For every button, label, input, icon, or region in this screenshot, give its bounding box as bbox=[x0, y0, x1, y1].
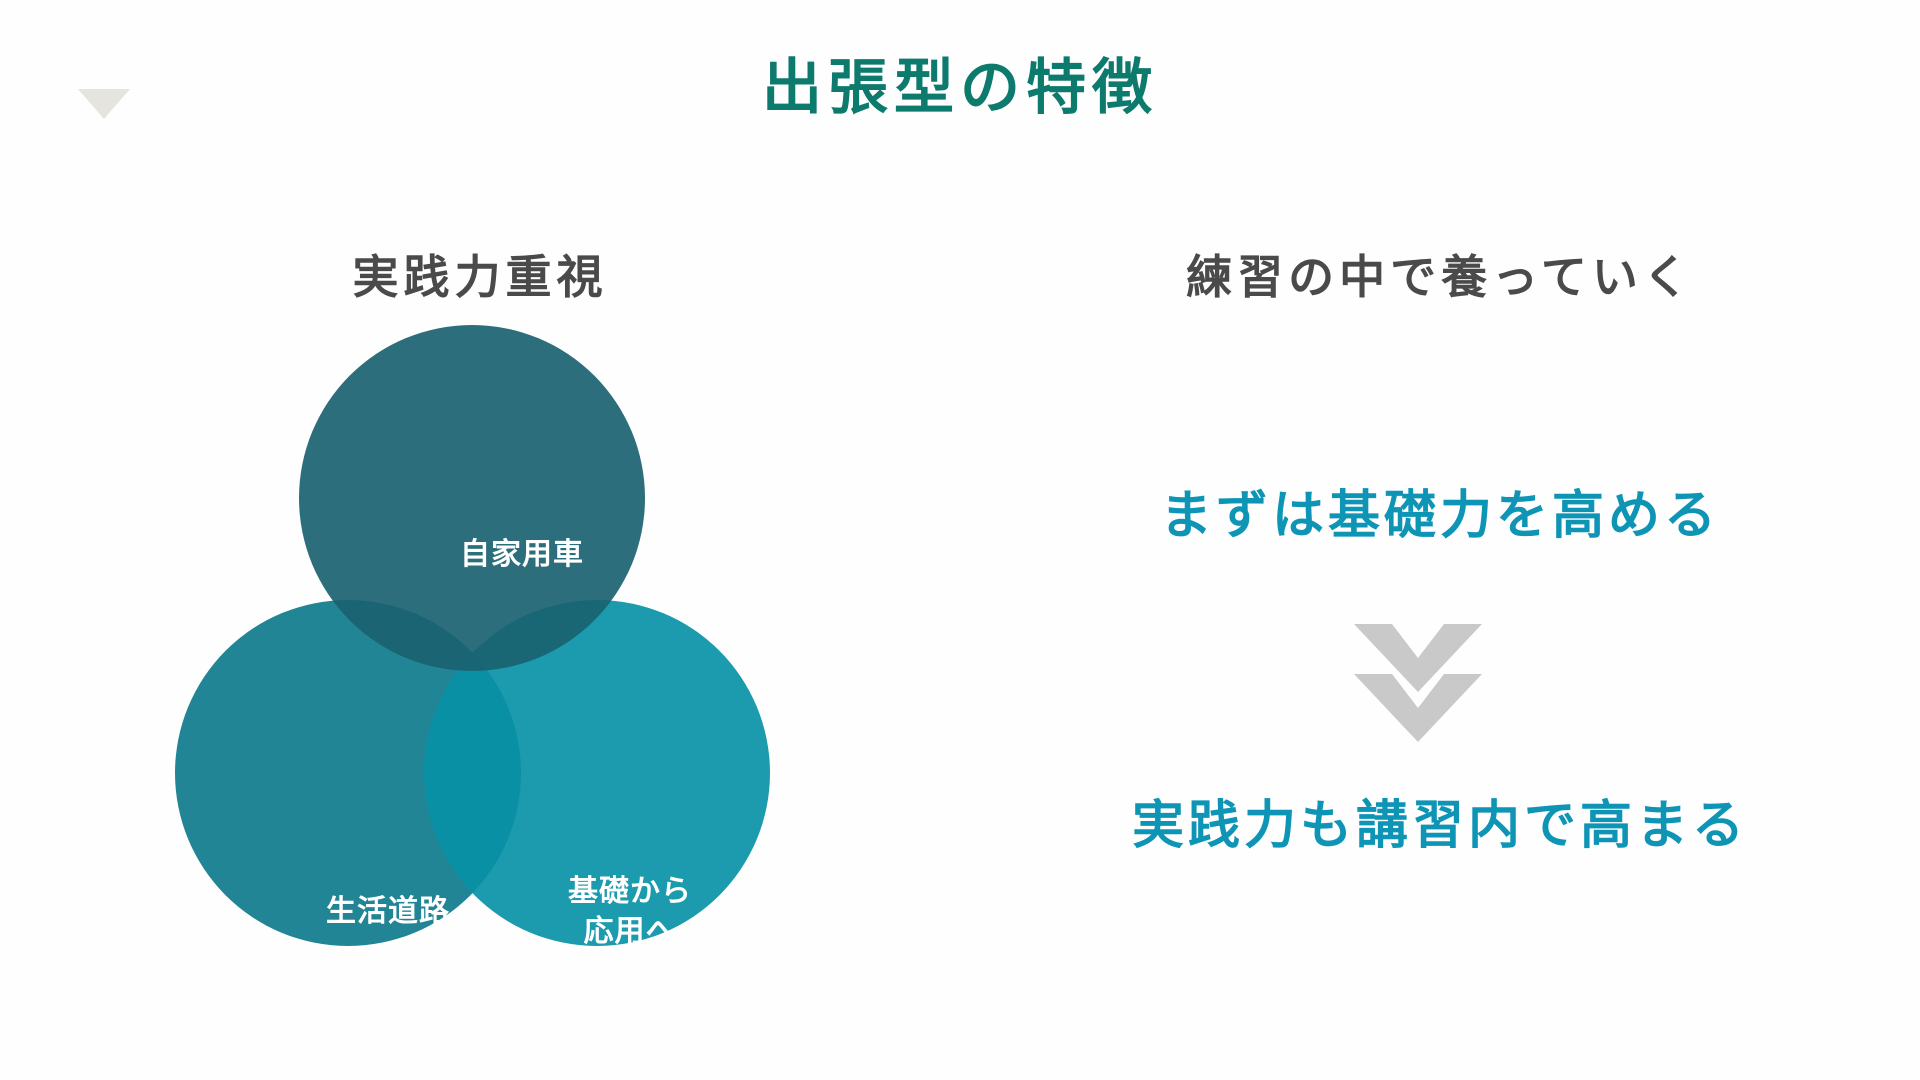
left-column-heading: 実践力重視 bbox=[160, 250, 800, 305]
flow-step-two-text: 実践力も講習内で高まる bbox=[940, 795, 1920, 857]
right-column-heading: 練習の中で養っていく bbox=[1000, 250, 1880, 305]
venn-svg bbox=[150, 310, 810, 960]
slide-canvas: 出張型の特徴 実践力重視 練習の中で養っていく 自家用車 生活道路 基礎から 応… bbox=[0, 0, 1920, 1080]
chevron-double-down-svg bbox=[1348, 618, 1488, 748]
venn-circle-private-car bbox=[299, 325, 645, 671]
venn-diagram: 自家用車 生活道路 基礎から 応用へ bbox=[150, 310, 810, 960]
chevron-double-down-icon bbox=[1348, 618, 1488, 748]
page-title: 出張型の特徴 bbox=[0, 52, 1920, 124]
flow-step-one-text: まずは基礎力を高める bbox=[940, 485, 1920, 547]
